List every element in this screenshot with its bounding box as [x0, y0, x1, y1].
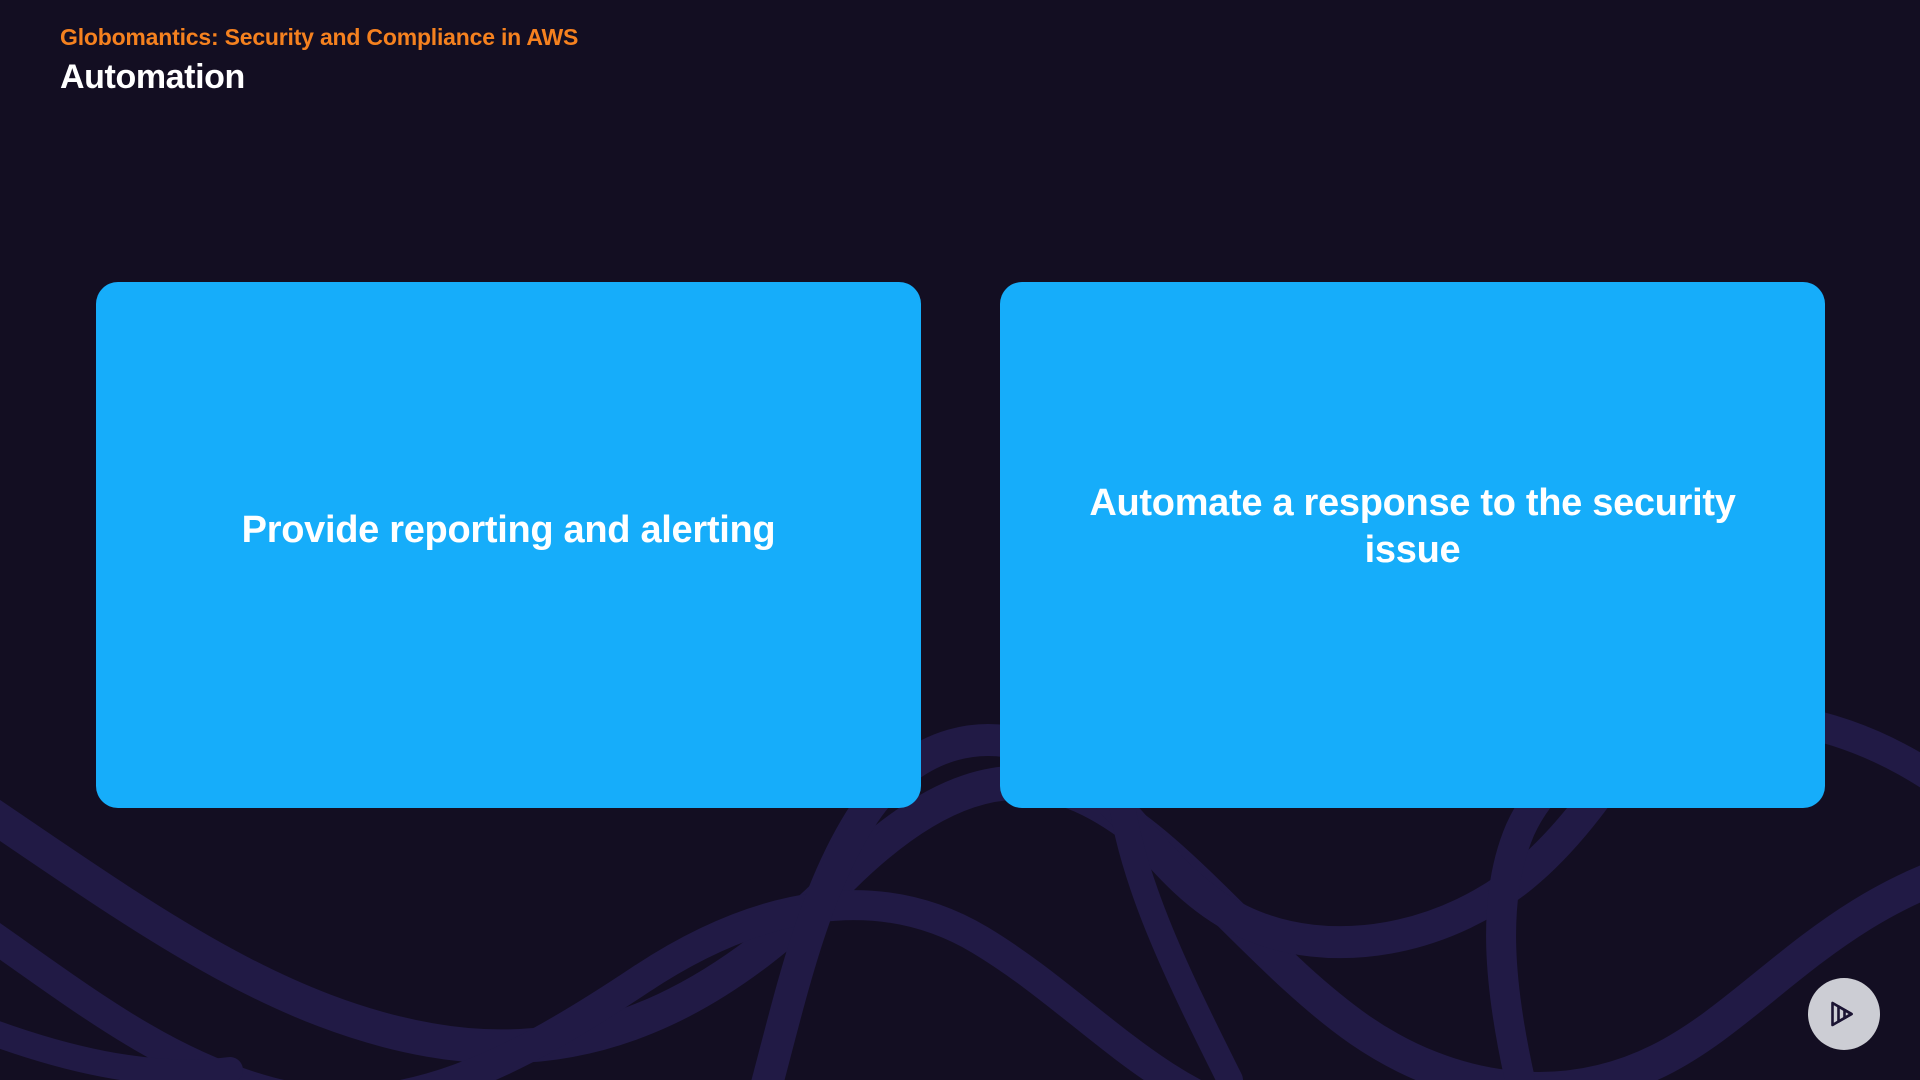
- presentation-slide: Globomantics: Security and Compliance in…: [0, 0, 1920, 1080]
- slide-header: Globomantics: Security and Compliance in…: [60, 22, 1460, 99]
- card-label: Automate a response to the security issu…: [1000, 480, 1825, 574]
- pluralsight-logo: [1808, 978, 1880, 1050]
- content-card-automate-response[interactable]: Automate a response to the security issu…: [1000, 282, 1825, 808]
- course-title-eyebrow: Globomantics: Security and Compliance in…: [60, 22, 1460, 52]
- page-title: Automation: [60, 55, 1460, 99]
- card-group: Provide reporting and alerting Automate …: [96, 282, 1825, 808]
- play-triangle-icon: [1824, 994, 1864, 1034]
- content-card-reporting-alerting[interactable]: Provide reporting and alerting: [96, 282, 921, 808]
- card-label: Provide reporting and alerting: [96, 507, 921, 554]
